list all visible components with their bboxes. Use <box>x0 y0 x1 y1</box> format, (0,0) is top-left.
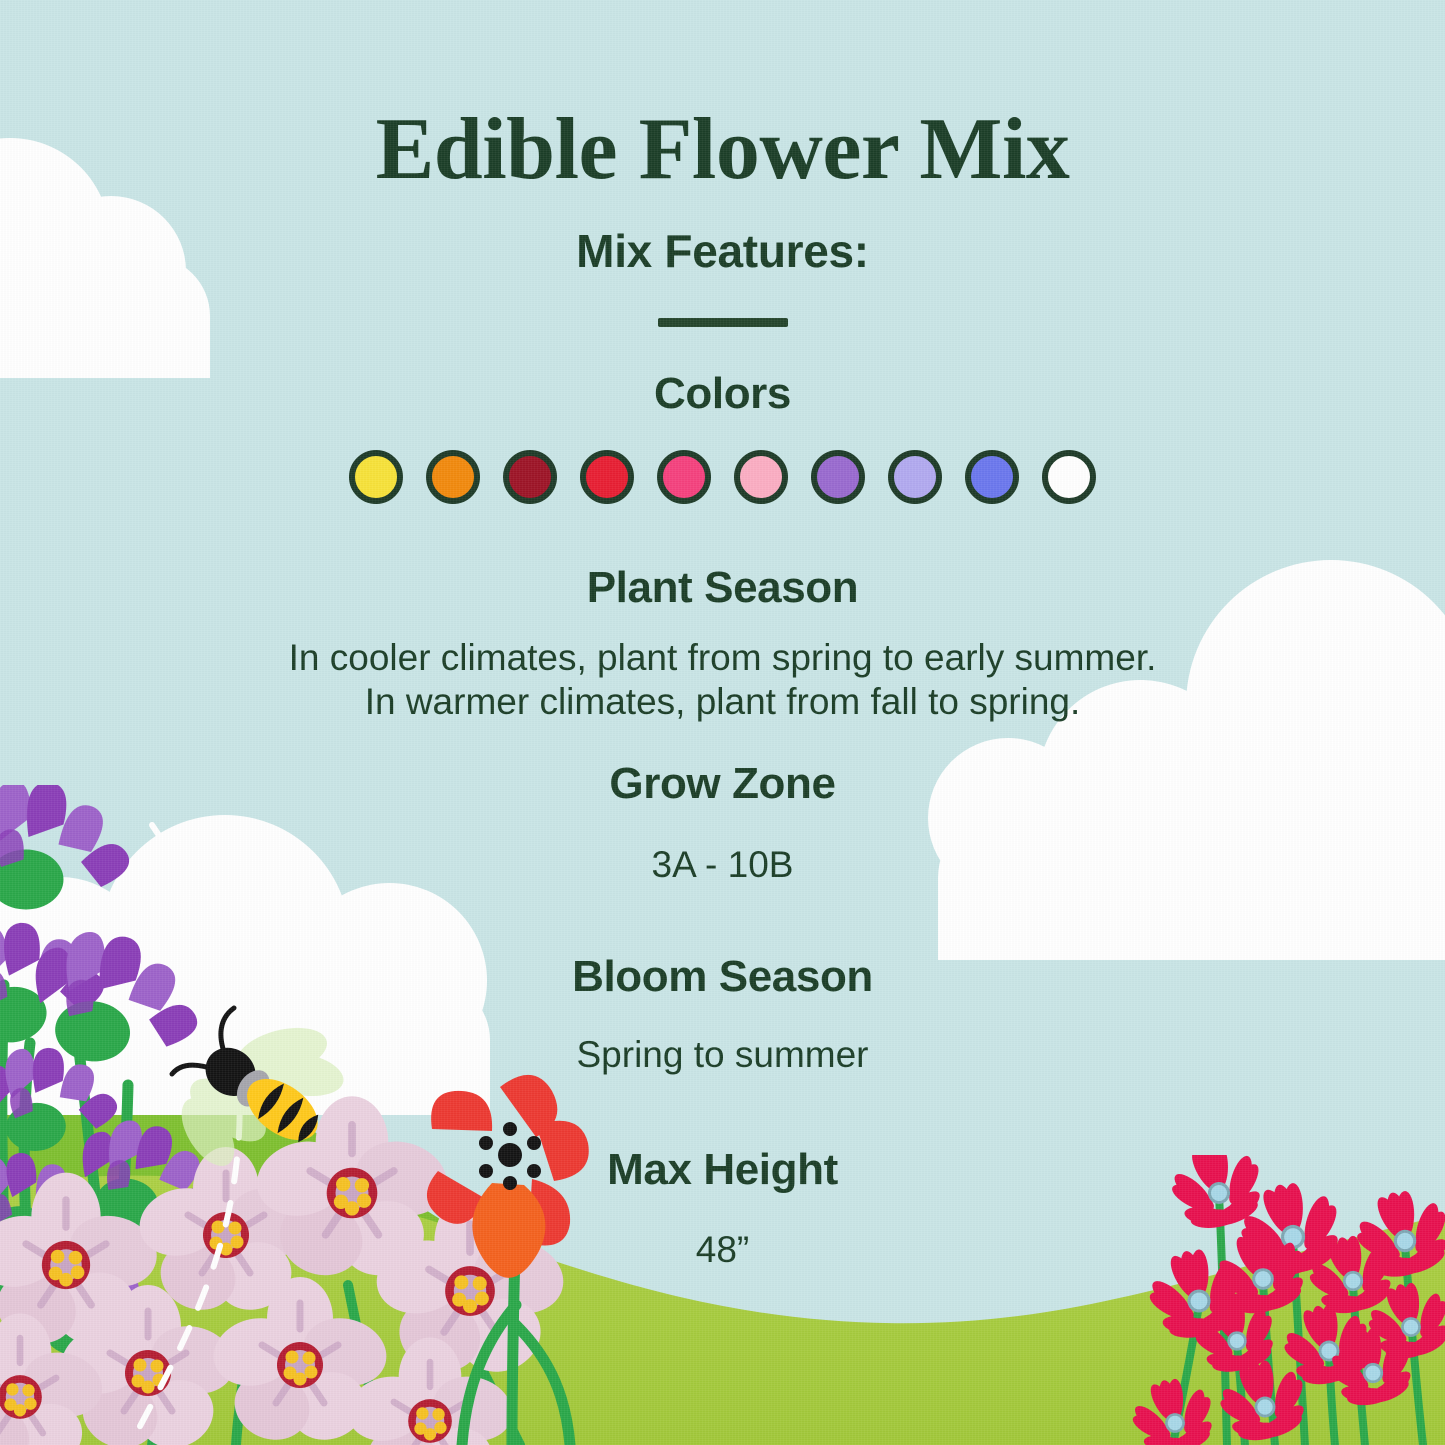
grow-zone-value: 3A - 10B <box>0 843 1445 887</box>
seed-packet-infographic: Edible Flower Mix Mix Features: Colors P… <box>0 0 1445 1445</box>
plant-season-line-2: In warmer climates, plant from fall to s… <box>0 680 1445 724</box>
page-title: Edible Flower Mix <box>0 106 1445 194</box>
plant-season-body: In cooler climates, plant from spring to… <box>0 636 1445 723</box>
color-swatch-hot-pink[interactable] <box>657 450 711 504</box>
grow-zone-heading: Grow Zone <box>0 762 1445 806</box>
plant-season-heading: Plant Season <box>0 566 1445 610</box>
color-swatch-light-pink[interactable] <box>734 450 788 504</box>
color-swatch-dark-red[interactable] <box>503 450 557 504</box>
color-swatch-purple[interactable] <box>811 450 865 504</box>
max-height-value: 48” <box>0 1228 1445 1272</box>
title-divider-wrap <box>0 318 1445 327</box>
divider-rule <box>658 318 788 327</box>
max-height-heading: Max Height <box>0 1148 1445 1192</box>
color-swatch-red[interactable] <box>580 450 634 504</box>
mix-features-subtitle: Mix Features: <box>0 228 1445 274</box>
crimson-daisy-cluster <box>1115 1155 1445 1445</box>
color-swatch-orange[interactable] <box>426 450 480 504</box>
color-swatch-white[interactable] <box>1042 450 1096 504</box>
color-swatch-light-lavender[interactable] <box>888 450 942 504</box>
plant-season-line-1: In cooler climates, plant from spring to… <box>0 636 1445 680</box>
color-swatch-blue-violet[interactable] <box>965 450 1019 504</box>
color-swatch-yellow[interactable] <box>349 450 403 504</box>
colors-heading: Colors <box>0 372 1445 416</box>
bloom-season-value: Spring to summer <box>0 1033 1445 1077</box>
color-swatch-row <box>0 450 1445 504</box>
bloom-season-heading: Bloom Season <box>0 955 1445 999</box>
